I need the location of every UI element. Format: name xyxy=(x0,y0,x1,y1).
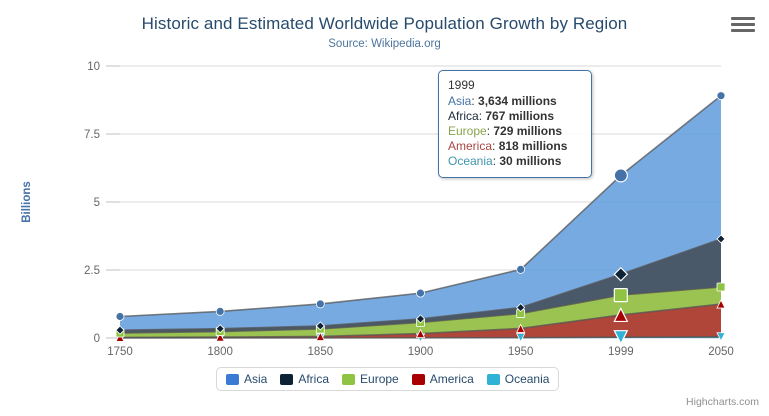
tooltip-row-africa: Africa: 767 millions xyxy=(448,109,582,124)
legend-label: Europe xyxy=(360,372,399,386)
legend-label: Africa xyxy=(298,372,329,386)
point-asia-1950[interactable] xyxy=(517,265,525,273)
tooltip-header: 1999 xyxy=(448,78,582,92)
point-asia-1750[interactable] xyxy=(116,312,124,320)
point-asia-2050[interactable] xyxy=(717,92,725,100)
x-tick-label: 1750 xyxy=(107,346,133,358)
tooltip-series-name: America xyxy=(448,139,492,153)
tooltip-separator: : xyxy=(471,94,478,108)
y-tick-label: 2.5 xyxy=(84,265,100,277)
x-tick-label: 1950 xyxy=(508,346,534,358)
legend-label: Oceania xyxy=(505,372,550,386)
legend-swatch-america xyxy=(412,374,425,385)
highcharts-container: Historic and Estimated Worldwide Populat… xyxy=(0,0,769,416)
legend-swatch-oceania xyxy=(487,374,500,385)
tooltip-row-america: America: 818 millions xyxy=(448,139,582,154)
x-tick-label: 1999 xyxy=(608,346,634,358)
series-areas xyxy=(120,96,721,338)
legend-swatch-asia xyxy=(226,374,239,385)
legend-item-africa[interactable]: Africa xyxy=(280,372,329,386)
tooltip: 1999 Asia: 3,634 millionsAfrica: 767 mil… xyxy=(438,70,592,178)
legend-swatch-africa xyxy=(280,374,293,385)
legend-item-oceania[interactable]: Oceania xyxy=(487,372,550,386)
y-tick-label: 7.5 xyxy=(84,129,100,141)
tooltip-rows: Asia: 3,634 millionsAfrica: 767 millions… xyxy=(448,94,582,169)
y-tick-label: 0 xyxy=(94,333,100,345)
tooltip-series-name: Africa xyxy=(448,109,479,123)
legend-label: Asia xyxy=(244,372,267,386)
tooltip-row-asia: Asia: 3,634 millions xyxy=(448,94,582,109)
tooltip-series-value: 3,634 millions xyxy=(478,94,557,108)
credits-link[interactable]: Highcharts.com xyxy=(686,396,759,408)
point-asia-1900[interactable] xyxy=(417,289,425,297)
x-axis-labels: 1750180018501900195019992050 xyxy=(107,346,734,358)
legend-swatch-europe xyxy=(342,374,355,385)
point-europe-2050[interactable] xyxy=(717,283,725,291)
y-axis-title-text: Billions xyxy=(21,181,33,223)
tooltip-series-value: 30 millions xyxy=(499,154,561,168)
legend-item-asia[interactable]: Asia xyxy=(226,372,267,386)
x-tick-label: 1900 xyxy=(408,346,434,358)
y-tick-label: 5 xyxy=(94,197,100,209)
tooltip-series-name: Asia xyxy=(448,94,471,108)
x-tick-label: 1850 xyxy=(308,346,334,358)
y-tick-label: 10 xyxy=(87,61,100,73)
plot-area: 02.557.510 1750180018501900195019992050 … xyxy=(0,0,769,416)
tooltip-series-name: Oceania xyxy=(448,154,493,168)
tooltip-series-name: Europe xyxy=(448,124,487,138)
y-axis-labels: 02.557.510 xyxy=(84,61,100,345)
point-asia-1800[interactable] xyxy=(216,307,224,315)
x-tick-label: 1800 xyxy=(207,346,233,358)
legend-item-europe[interactable]: Europe xyxy=(342,372,399,386)
y-axis-title: Billions xyxy=(21,181,33,223)
tooltip-series-value: 818 millions xyxy=(499,139,568,153)
tooltip-row-europe: Europe: 729 millions xyxy=(448,124,582,139)
tooltip-separator: : xyxy=(492,139,499,153)
tooltip-series-value: 729 millions xyxy=(493,124,562,138)
x-tick-label: 2050 xyxy=(708,346,734,358)
point-europe-1999[interactable] xyxy=(614,289,627,302)
legend-label: America xyxy=(430,372,474,386)
point-asia-1999[interactable] xyxy=(614,169,627,182)
legend-item-america[interactable]: America xyxy=(412,372,474,386)
tooltip-row-oceania: Oceania: 30 millions xyxy=(448,154,582,169)
tooltip-series-value: 767 millions xyxy=(485,109,554,123)
point-asia-1850[interactable] xyxy=(316,300,324,308)
legend: AsiaAfricaEuropeAmericaOceania xyxy=(216,367,559,391)
